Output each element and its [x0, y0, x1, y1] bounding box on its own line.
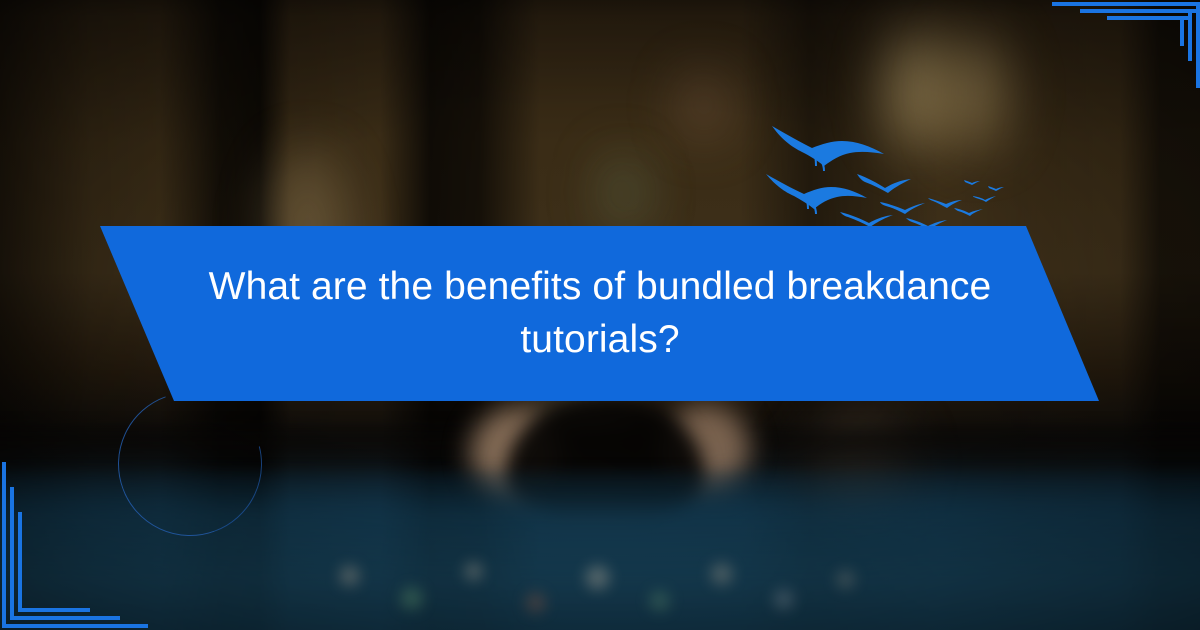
banner-graphic: What are the benefits of bundled breakda…	[0, 0, 1200, 630]
decor-line	[10, 616, 120, 620]
headline-text: What are the benefits of bundled breakda…	[175, 226, 1025, 401]
headline-banner: What are the benefits of bundled breakda…	[0, 226, 1200, 401]
flying-birds-flock-icon	[760, 108, 1010, 232]
decor-line	[1180, 16, 1184, 46]
decor-line	[1196, 2, 1200, 88]
decor-line	[10, 487, 14, 620]
decor-line	[18, 512, 22, 612]
decor-line	[2, 462, 6, 628]
decor-line	[18, 608, 90, 612]
decor-line	[2, 624, 148, 628]
decor-line	[1188, 9, 1192, 61]
decor-line	[1080, 9, 1196, 13]
decor-line	[1107, 16, 1188, 20]
decor-line	[1052, 2, 1198, 6]
